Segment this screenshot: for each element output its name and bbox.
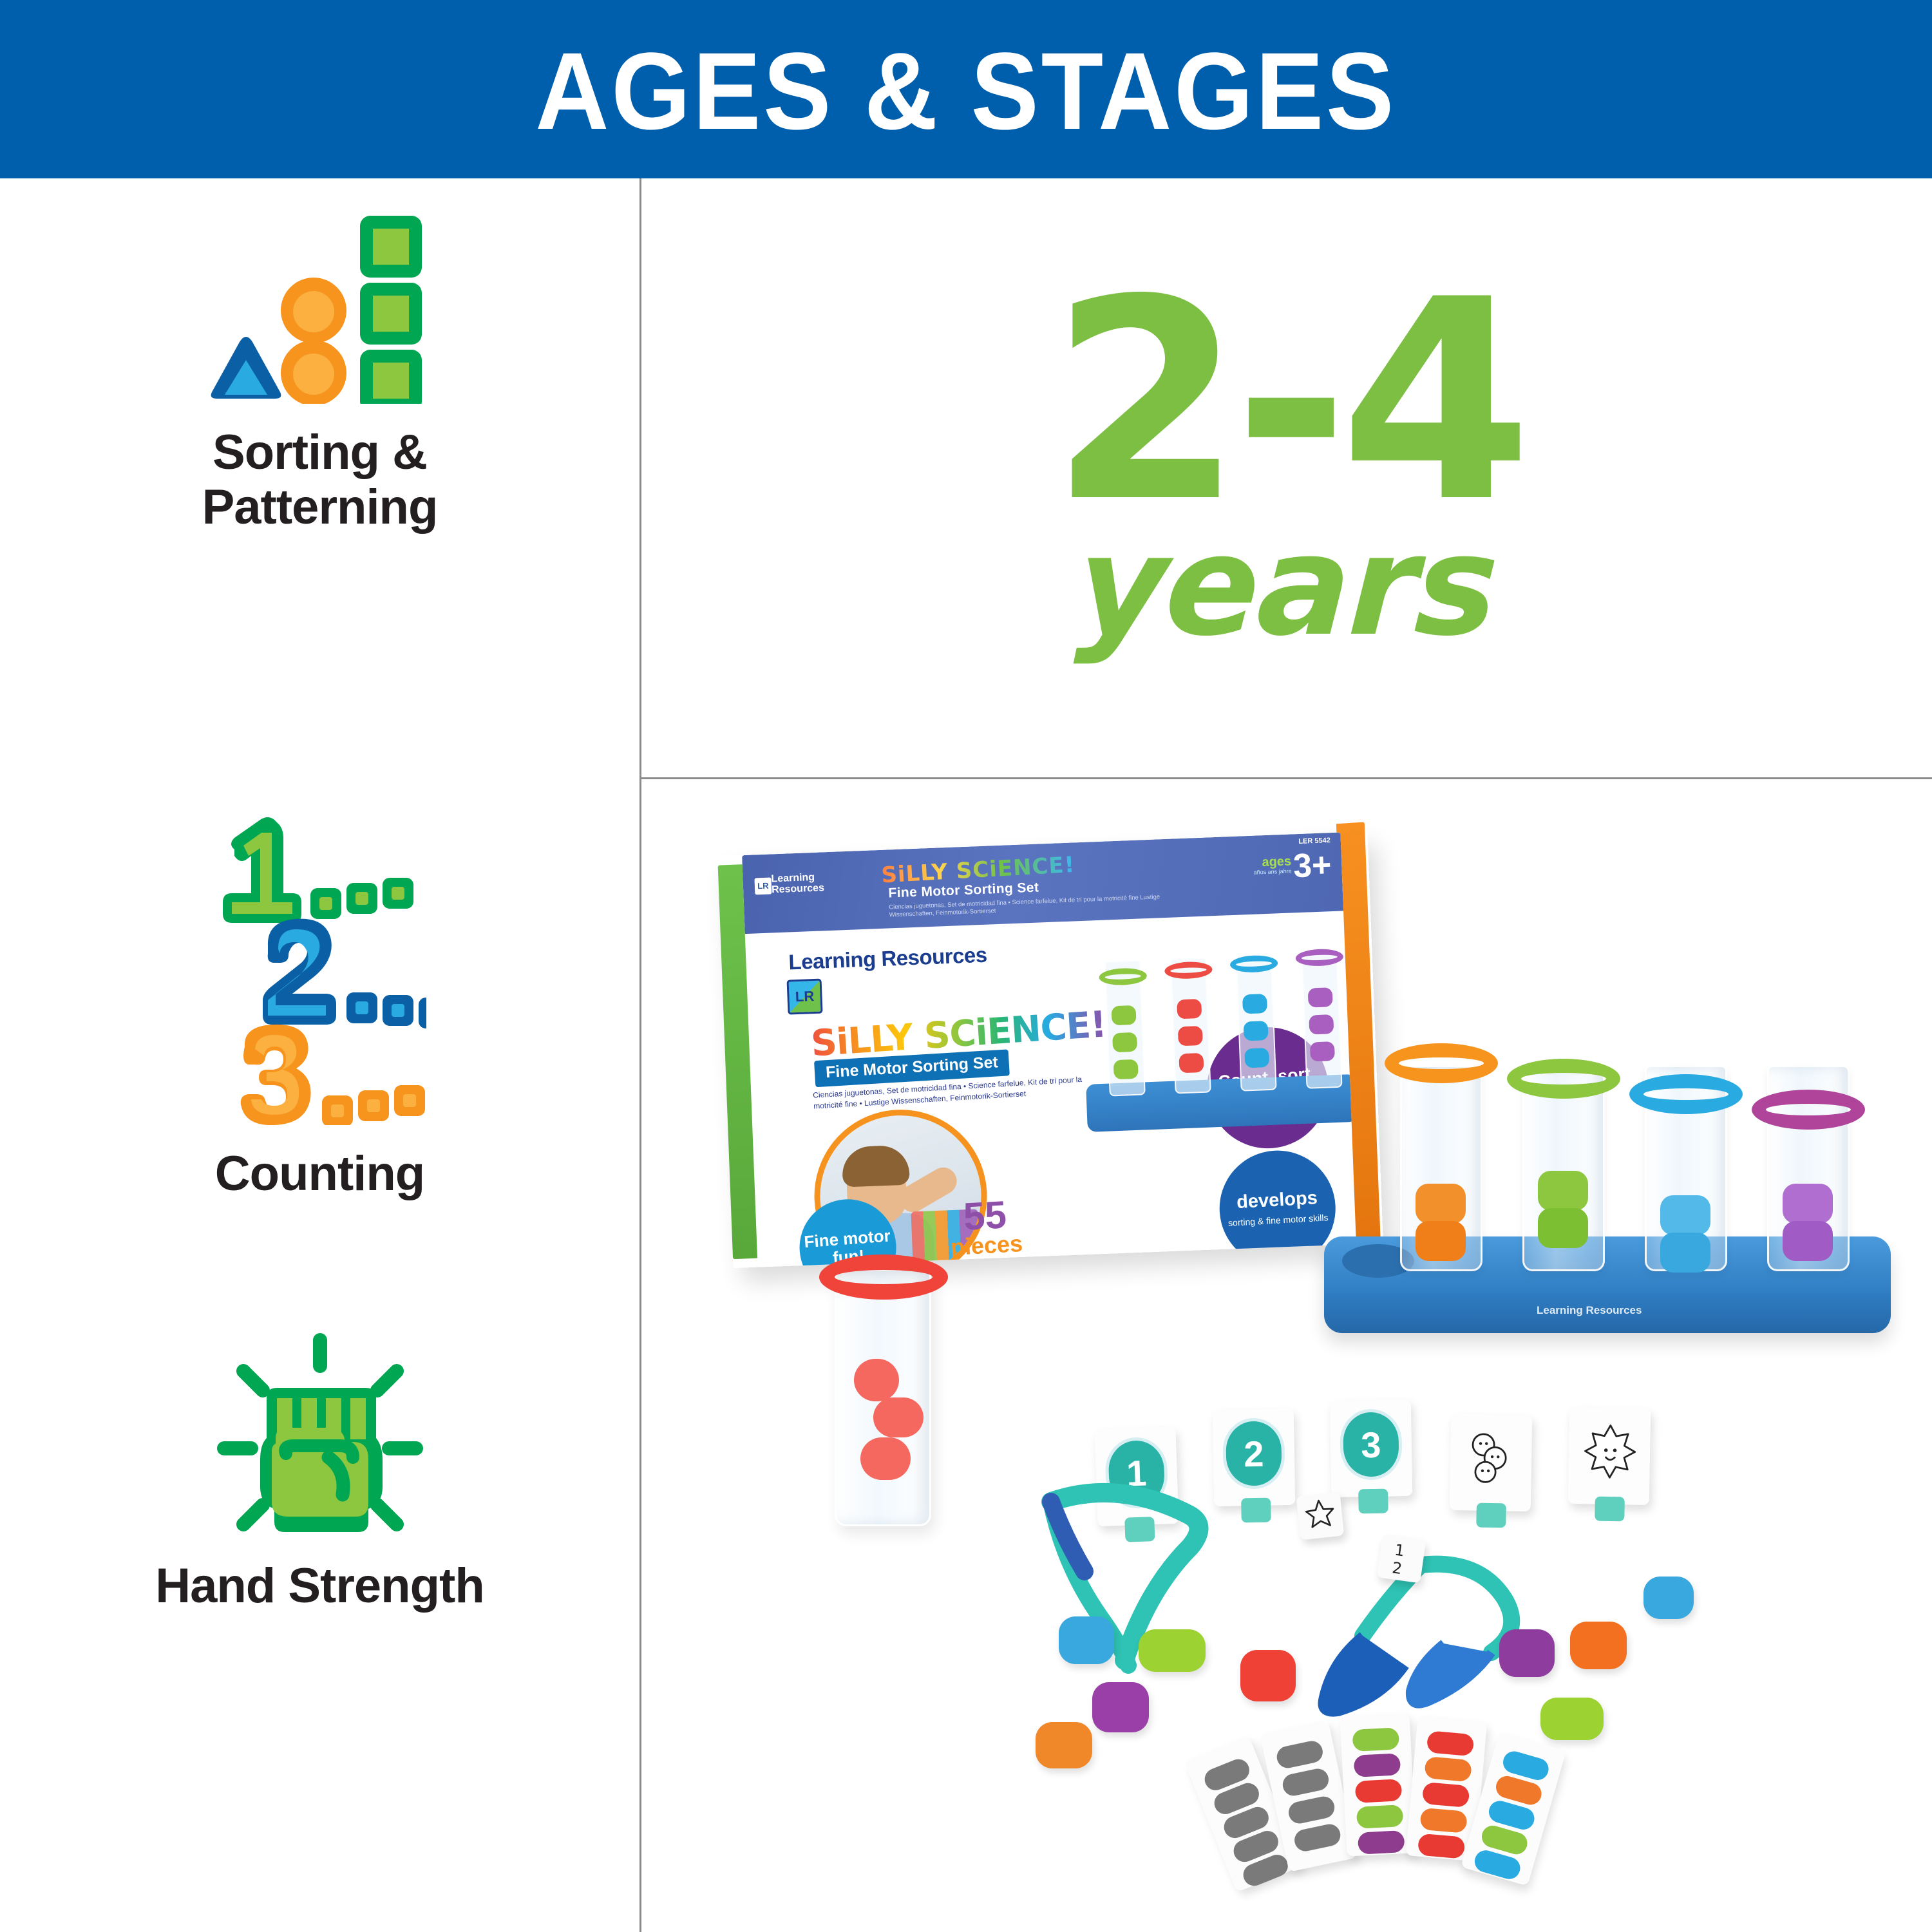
shape-color-die	[1296, 1492, 1345, 1540]
box-ages-value: 3+	[1293, 848, 1332, 883]
pattern-dot	[1426, 1730, 1475, 1756]
box-blob-1b	[1112, 1032, 1137, 1052]
star-die-face-icon	[1296, 1492, 1345, 1540]
loose-creature-orange	[1036, 1722, 1092, 1768]
feature-sorting-patterning: Sorting & Patterning	[0, 211, 639, 535]
red-ball-2	[873, 1397, 923, 1437]
box-blob-2a	[1177, 999, 1202, 1019]
child-hair	[842, 1145, 910, 1188]
tube-rack: Learning Resources	[1324, 1030, 1891, 1333]
feature-label-sorting-line1: Sorting &	[202, 425, 438, 480]
header-banner: AGES & STAGES	[0, 0, 1932, 178]
pattern-dot	[1356, 1804, 1404, 1829]
product-photo: LR Learning Resources SiLLY SCiENCE! Fin…	[641, 779, 1932, 1932]
feature-label-counting-line1: Counting	[215, 1146, 424, 1201]
loose-creature-violet	[1499, 1629, 1555, 1677]
shapes-sorting-icon	[211, 211, 430, 407]
loose-creature-orange2	[1570, 1622, 1627, 1669]
product-photo-stage: LR Learning Resources SiLLY SCiENCE! Fin…	[641, 779, 1932, 1932]
box-blob-2c	[1179, 1053, 1204, 1073]
pattern-dot	[1419, 1808, 1468, 1833]
box-front-face: LR Learning Resources SiLLY SCiENCE! Fin…	[742, 832, 1356, 1267]
rack-ring-orange	[1385, 1043, 1498, 1083]
box-blob-3a	[1242, 994, 1267, 1014]
red-ball-3	[860, 1437, 911, 1480]
feature-label-sorting-line2: Patterning	[202, 480, 438, 535]
box-blob-1a	[1111, 1005, 1136, 1025]
fist-strength-icon	[214, 1331, 426, 1540]
infographic-page: AGES & STAGES	[0, 0, 1932, 1932]
pattern-dot	[1358, 1830, 1405, 1855]
box-blob-2b	[1178, 1026, 1203, 1046]
box-brand-cube-icon: LR	[787, 979, 823, 1015]
creature-purple-2	[1783, 1221, 1833, 1261]
svg-text:2: 2	[1391, 1558, 1403, 1578]
loose-creature-purple	[1092, 1682, 1149, 1732]
face-card-blob	[1450, 1414, 1533, 1511]
pattern-dot	[1355, 1779, 1403, 1803]
svg-text:1: 1	[1394, 1541, 1406, 1560]
age-range-unit: years	[1074, 516, 1499, 655]
pattern-dot	[1352, 1727, 1399, 1752]
number-die: 1 2	[1377, 1534, 1426, 1584]
face-card-star	[1568, 1407, 1651, 1505]
feature-label-hand-strength: Hand Strength	[155, 1558, 484, 1613]
piece-count-number: 55	[948, 1195, 1022, 1236]
number-card-3-stand	[1358, 1489, 1388, 1514]
creature-orange-2	[1416, 1221, 1466, 1261]
badge-develops: develops sorting & fine motor skills	[1217, 1148, 1339, 1267]
creature-purple-1	[1783, 1184, 1833, 1224]
box-brand-logo-text: Learning Resources	[788, 944, 987, 973]
creature-orange-1	[1416, 1184, 1466, 1224]
pattern-dot	[1417, 1833, 1466, 1859]
loose-tube-red-ring	[819, 1255, 948, 1300]
loose-creature-red	[1240, 1650, 1296, 1701]
box-blob-1c	[1113, 1059, 1139, 1079]
loose-creature-blue	[1059, 1616, 1114, 1664]
feature-hand-strength: Hand Strength	[0, 1331, 639, 1613]
creature-blue-2	[1660, 1233, 1710, 1273]
badge-piece-count: 55 pieces piezas • pièces • teile	[948, 1195, 1024, 1267]
feature-label-counting: Counting	[215, 1146, 424, 1201]
box-top-brand: Learning Resources	[771, 870, 868, 896]
pattern-dot	[1424, 1756, 1472, 1782]
feature-counting: Counting	[0, 816, 639, 1201]
page-title: AGES & STAGES	[536, 37, 1397, 146]
number-die-face-icon: 1 2	[1377, 1534, 1426, 1584]
feature-label-sorting: Sorting & Patterning	[202, 425, 438, 535]
creature-green-1	[1538, 1171, 1588, 1211]
box-top-lr-cube-icon: LR	[754, 877, 772, 895]
number-card-3: 3	[1330, 1399, 1413, 1497]
box-ages-sub: años ans jahre	[1253, 867, 1291, 876]
pattern-card-color-1	[1340, 1712, 1416, 1856]
pattern-dot	[1293, 1822, 1342, 1853]
pattern-dot	[1275, 1739, 1325, 1770]
number-card-3-value: 3	[1340, 1408, 1403, 1481]
star-face-icon	[1580, 1420, 1640, 1481]
box-ages-label: ages años ans jahre	[1253, 855, 1292, 876]
pattern-dot	[1281, 1766, 1331, 1797]
pattern-dot	[1422, 1782, 1470, 1808]
features-column: Sorting & Patterning	[0, 178, 639, 1932]
box-blob-3c	[1244, 1048, 1269, 1068]
loose-creature-green	[1139, 1629, 1206, 1672]
age-range-panel: 2-4 years	[641, 178, 1932, 777]
rack-ring-purple	[1752, 1090, 1865, 1130]
pattern-dot	[1287, 1794, 1336, 1825]
loose-creature-blue2	[1643, 1577, 1694, 1619]
box-rack-illustration	[1080, 929, 1356, 1132]
badge-develops-sub: sorting & fine motor skills	[1228, 1211, 1329, 1229]
face-card-blob-stand	[1476, 1503, 1506, 1528]
box-blob-4a	[1308, 987, 1333, 1007]
product-box: LR Learning Resources SiLLY SCiENCE! Fin…	[717, 831, 1383, 1268]
blob-face-icon	[1461, 1426, 1522, 1487]
badge-develops-title: develops	[1236, 1189, 1318, 1212]
rack-ring-green	[1507, 1059, 1620, 1099]
rack-brand-mark: Learning Resources	[1537, 1305, 1642, 1316]
numbers-counting-icon	[214, 816, 426, 1128]
face-card-star-stand	[1595, 1497, 1625, 1522]
feature-label-hand-strength-line1: Hand Strength	[155, 1558, 484, 1613]
box-top-band: LR Learning Resources SiLLY SCiENCE! Fin…	[742, 832, 1343, 934]
box-sku: LER 5542	[1298, 837, 1331, 846]
red-ball-1	[854, 1359, 899, 1401]
age-range-value: 2-4	[1050, 275, 1524, 530]
loose-creature-green2	[1540, 1698, 1604, 1740]
piece-count-word: pieces	[950, 1232, 1023, 1259]
rack-ring-blue	[1629, 1074, 1743, 1114]
creature-blue-1	[1660, 1195, 1710, 1235]
creature-green-2	[1538, 1208, 1588, 1248]
pattern-dot	[1354, 1753, 1401, 1777]
box-blob-3b	[1244, 1021, 1269, 1041]
